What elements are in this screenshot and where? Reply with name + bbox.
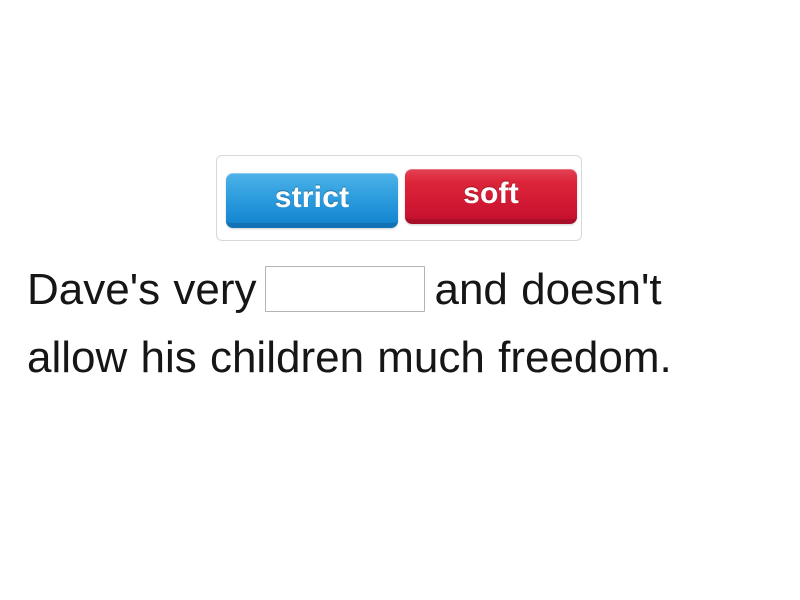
word-tile-soft-label: soft <box>463 177 519 211</box>
word-tile-soft[interactable]: soft <box>405 169 577 224</box>
sentence-text-after-blank: and doesn't <box>434 265 661 314</box>
word-tile-strict-label: strict <box>275 181 350 215</box>
word-tile-strict[interactable]: strict <box>226 173 398 228</box>
sentence-prompt: Dave's veryand doesn't allow his childre… <box>27 256 777 392</box>
sentence-text-before-blank: Dave's very <box>27 265 256 314</box>
word-bank-container: strict soft <box>216 155 582 241</box>
sentence-text-line-two: allow his children much freedom. <box>27 324 777 392</box>
blank-drop-slot[interactable] <box>265 266 425 312</box>
